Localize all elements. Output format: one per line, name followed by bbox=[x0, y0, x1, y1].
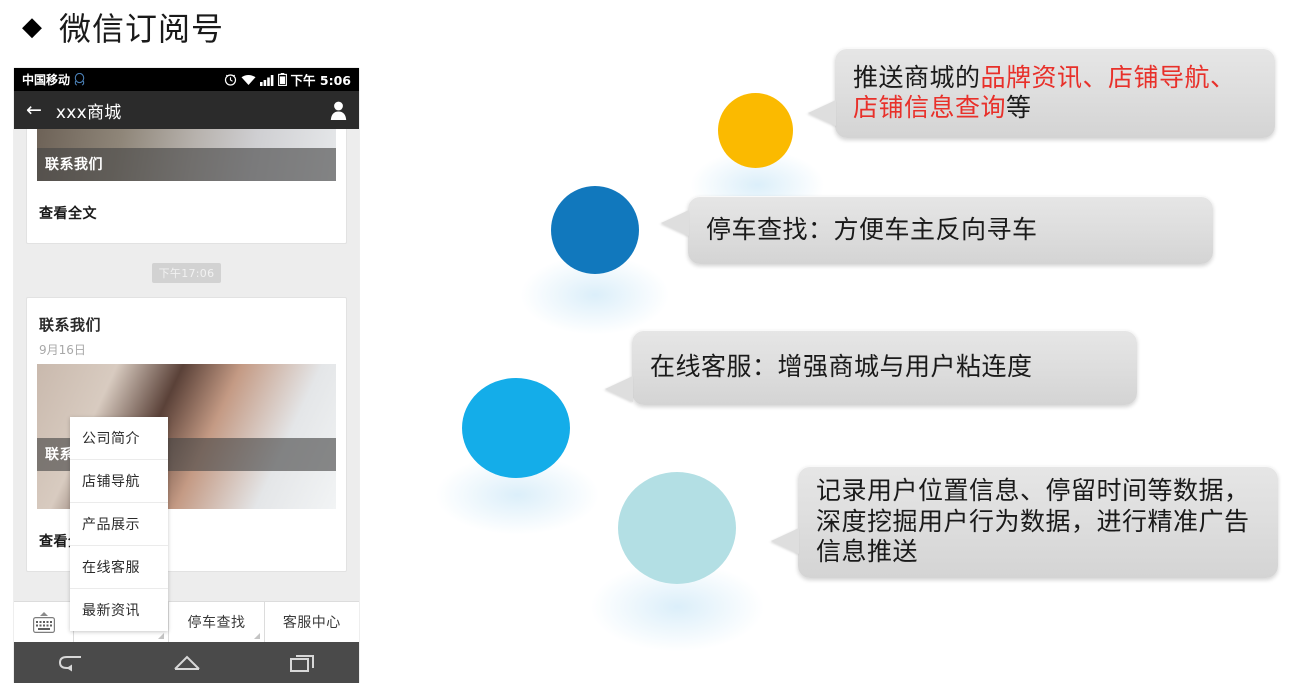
keyboard-toggle[interactable] bbox=[14, 602, 74, 642]
message-date: 9月16日 bbox=[27, 339, 346, 364]
callout-circle-1 bbox=[718, 93, 793, 168]
chat-area[interactable]: 联系我们 查看全文 下午17:06 联系我们 9月16日 联系我们 查看全文 公… bbox=[14, 129, 359, 604]
bottom-menu-item-service-center[interactable]: 客服中心 bbox=[265, 602, 359, 642]
bottom-menu-bar: 信息查询 停车查找 客服中心 bbox=[14, 601, 359, 642]
carrier-label: 中国移动 bbox=[22, 71, 70, 88]
submenu-corner-icon bbox=[158, 633, 164, 639]
android-nav-bar bbox=[14, 642, 359, 683]
signal-icon bbox=[260, 74, 274, 86]
back-arrow-icon[interactable]: ← bbox=[26, 101, 42, 120]
bottom-menu-item-parking-find[interactable]: 停车查找 bbox=[169, 602, 264, 642]
status-time: 下午 5:06 bbox=[291, 70, 351, 89]
bottom-menu-label: 客服中心 bbox=[283, 612, 341, 632]
view-full-link[interactable]: 查看全文 bbox=[27, 181, 346, 243]
keyboard-icon bbox=[33, 617, 55, 633]
status-bar: 中国移动 bbox=[14, 68, 359, 91]
callout-text-plain: 推送商城的 bbox=[853, 63, 981, 92]
chevron-up-icon bbox=[40, 612, 48, 616]
message-card[interactable]: 联系我们 查看全文 bbox=[26, 129, 347, 244]
phone-mockup: 中国移动 bbox=[14, 68, 359, 683]
callout-circle-2 bbox=[551, 186, 639, 274]
person-icon[interactable] bbox=[330, 101, 347, 120]
bubble-tail bbox=[808, 100, 836, 126]
callout-circle-4 bbox=[618, 472, 736, 584]
callout-text-2: 停车查找：方便车主反向寻车 bbox=[688, 215, 1213, 246]
message-image-caption: 联系我们 bbox=[37, 148, 336, 181]
message-title: 联系我们 bbox=[27, 298, 346, 339]
home-icon[interactable] bbox=[172, 652, 202, 674]
callout-bubble-2: 停车查找：方便车主反向寻车 bbox=[688, 196, 1213, 264]
callout-bubble-1: 推送商城的品牌资讯、店铺导航、店铺信息查询等 bbox=[835, 48, 1275, 138]
recents-icon[interactable] bbox=[287, 652, 317, 674]
qq-icon bbox=[74, 73, 85, 86]
timestamp-pill: 下午17:06 bbox=[152, 263, 222, 283]
callout-text-1: 推送商城的品牌资讯、店铺导航、店铺信息查询等 bbox=[835, 63, 1275, 124]
dropdown-item-product-showcase[interactable]: 产品展示 bbox=[70, 503, 168, 546]
bubble-tail bbox=[661, 210, 689, 236]
callout-bubble-3: 在线客服：增强商城与用户粘连度 bbox=[632, 330, 1137, 405]
callout-bubble-4: 记录用户位置信息、停留时间等数据，深度挖掘用户行为数据，进行精准广告信息推送 bbox=[798, 466, 1278, 578]
bubble-tail bbox=[605, 376, 633, 402]
app-bar-title: xxx商城 bbox=[56, 98, 122, 123]
dropdown-menu[interactable]: 公司简介 店铺导航 产品展示 在线客服 最新资讯 bbox=[70, 417, 168, 631]
battery-icon bbox=[278, 73, 287, 86]
bubble-tail bbox=[771, 528, 799, 554]
diamond-bullet-icon: ◆ bbox=[22, 14, 43, 40]
dropdown-item-online-service[interactable]: 在线客服 bbox=[70, 546, 168, 589]
message-timestamp: 下午17:06 bbox=[14, 244, 359, 297]
dropdown-item-store-nav[interactable]: 店铺导航 bbox=[70, 460, 168, 503]
callout-text-3: 在线客服：增强商城与用户粘连度 bbox=[632, 352, 1137, 383]
alarm-icon bbox=[224, 73, 237, 86]
page-title-text: 微信订阅号 bbox=[59, 4, 224, 50]
callout-text-4: 记录用户位置信息、停留时间等数据，深度挖掘用户行为数据，进行精准广告信息推送 bbox=[798, 476, 1278, 568]
bottom-menu-label: 停车查找 bbox=[187, 612, 245, 632]
dropdown-item-company-intro[interactable]: 公司简介 bbox=[70, 417, 168, 460]
message-image: 联系我们 bbox=[37, 129, 336, 181]
callout-circle-3 bbox=[462, 378, 570, 478]
submenu-corner-icon bbox=[254, 633, 260, 639]
callout-text-plain-tail: 等 bbox=[1006, 93, 1032, 122]
page-title: ◆ 微信订阅号 bbox=[22, 4, 224, 50]
back-icon[interactable] bbox=[57, 652, 87, 674]
wifi-icon bbox=[241, 74, 256, 86]
app-bar: ← xxx商城 bbox=[14, 91, 359, 129]
dropdown-item-latest-news[interactable]: 最新资讯 bbox=[70, 589, 168, 631]
